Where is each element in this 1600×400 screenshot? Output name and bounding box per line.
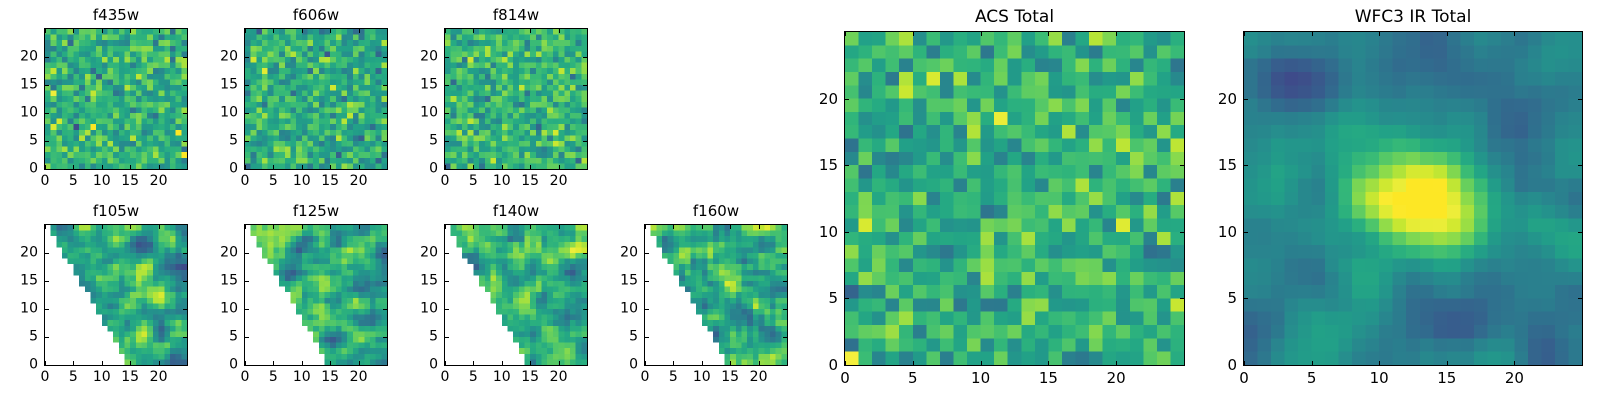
ytick-mark — [183, 281, 187, 282]
axes-f140w — [444, 224, 588, 366]
xtick-mark — [1379, 361, 1380, 365]
ytick-mark — [645, 253, 649, 254]
xtick-mark — [913, 32, 914, 36]
ytick-mark — [45, 281, 49, 282]
xtick-mark — [845, 32, 846, 36]
ytick-mark — [1244, 365, 1248, 366]
ytick-mark — [245, 365, 249, 366]
ytick-label: 0 — [196, 161, 238, 178]
xtick-label: 15 — [321, 173, 339, 190]
ytick-label: 15 — [396, 77, 438, 94]
xtick-label: 0 — [41, 369, 50, 386]
xtick-mark — [159, 165, 160, 169]
xtick-label: 5 — [469, 369, 478, 386]
xtick-mark — [473, 165, 474, 169]
xtick-mark — [502, 361, 503, 365]
panel-title-f606w: f606w — [244, 6, 388, 25]
xtick-mark — [530, 225, 531, 229]
xtick-mark — [359, 165, 360, 169]
xtick-label: 5 — [69, 173, 78, 190]
ytick-label: 0 — [1195, 356, 1237, 374]
xtick-label: 10 — [293, 369, 311, 386]
ytick-label: 5 — [396, 133, 438, 150]
xtick-mark — [130, 225, 131, 229]
xtick-mark — [45, 29, 46, 33]
xtick-label: 20 — [1505, 369, 1524, 387]
ytick-label: 5 — [196, 133, 238, 150]
heatmap-image-acs_total — [845, 32, 1184, 365]
panel-title-f140w: f140w — [444, 202, 588, 221]
ytick-mark — [45, 253, 49, 254]
panel-title-acs_total: ACS Total — [844, 7, 1185, 28]
ytick-label: 20 — [0, 245, 38, 262]
xtick-label: 10 — [693, 369, 711, 386]
ytick-mark — [45, 337, 49, 338]
panel-title-f160w: f160w — [644, 202, 788, 221]
axes-f435w — [44, 28, 188, 170]
xtick-mark — [330, 225, 331, 229]
xtick-mark — [1447, 32, 1448, 36]
ytick-mark — [183, 253, 187, 254]
panel-title-f105w: f105w — [44, 202, 188, 221]
xtick-label: 10 — [1370, 369, 1389, 387]
xtick-label: 15 — [321, 369, 339, 386]
heatmap-image-f435w — [45, 29, 187, 169]
ytick-label: 20 — [0, 49, 38, 66]
xtick-mark — [130, 29, 131, 33]
xtick-mark — [73, 361, 74, 365]
ytick-mark — [383, 57, 387, 58]
xtick-label: 0 — [441, 369, 450, 386]
ytick-mark — [1578, 99, 1582, 100]
ytick-mark — [845, 232, 849, 233]
xtick-mark — [502, 29, 503, 33]
xtick-label: 5 — [908, 369, 918, 387]
xtick-mark — [73, 225, 74, 229]
ytick-label: 20 — [596, 245, 638, 262]
ytick-label: 0 — [596, 357, 638, 374]
ytick-mark — [645, 281, 649, 282]
xtick-label: 20 — [750, 369, 768, 386]
ytick-mark — [245, 281, 249, 282]
ytick-mark — [783, 365, 787, 366]
ytick-label: 10 — [596, 301, 638, 318]
ytick-mark — [583, 169, 587, 170]
xtick-mark — [102, 29, 103, 33]
ytick-label: 5 — [196, 329, 238, 346]
xtick-label: 0 — [241, 173, 250, 190]
ytick-mark — [183, 113, 187, 114]
xtick-mark — [1312, 361, 1313, 365]
xtick-mark — [981, 361, 982, 365]
heatmap-image-f125w — [245, 225, 387, 365]
ytick-label: 5 — [0, 133, 38, 150]
xtick-label: 10 — [493, 369, 511, 386]
ytick-mark — [45, 85, 49, 86]
xtick-mark — [502, 165, 503, 169]
ytick-mark — [845, 165, 849, 166]
xtick-label: 20 — [350, 369, 368, 386]
ytick-mark — [383, 309, 387, 310]
ytick-mark — [445, 253, 449, 254]
ytick-mark — [383, 113, 387, 114]
ytick-mark — [445, 113, 449, 114]
xtick-mark — [102, 165, 103, 169]
ytick-mark — [383, 253, 387, 254]
ytick-mark — [245, 169, 249, 170]
xtick-mark — [1116, 32, 1117, 36]
xtick-label: 15 — [121, 173, 139, 190]
ytick-label: 10 — [396, 105, 438, 122]
xtick-mark — [273, 165, 274, 169]
ytick-label: 10 — [0, 105, 38, 122]
ytick-mark — [1244, 165, 1248, 166]
ytick-label: 0 — [396, 161, 438, 178]
xtick-mark — [1116, 361, 1117, 365]
ytick-label: 20 — [196, 49, 238, 66]
ytick-mark — [845, 365, 849, 366]
ytick-label: 15 — [1195, 156, 1237, 174]
xtick-label: 20 — [350, 173, 368, 190]
ytick-mark — [1578, 298, 1582, 299]
ytick-mark — [245, 57, 249, 58]
xtick-label: 0 — [840, 369, 850, 387]
heatmap-image-f160w — [645, 225, 787, 365]
ytick-mark — [45, 169, 49, 170]
xtick-mark — [473, 29, 474, 33]
ytick-label: 15 — [796, 156, 838, 174]
ytick-mark — [445, 85, 449, 86]
ytick-mark — [445, 281, 449, 282]
ytick-label: 15 — [196, 273, 238, 290]
ytick-mark — [445, 57, 449, 58]
xtick-mark — [302, 361, 303, 365]
ytick-mark — [583, 253, 587, 254]
ytick-label: 15 — [596, 273, 638, 290]
xtick-mark — [1379, 32, 1380, 36]
ytick-mark — [445, 337, 449, 338]
ytick-mark — [783, 253, 787, 254]
ytick-label: 20 — [396, 49, 438, 66]
ytick-mark — [1578, 365, 1582, 366]
ytick-mark — [445, 309, 449, 310]
ytick-mark — [183, 169, 187, 170]
ytick-mark — [1244, 298, 1248, 299]
xtick-mark — [473, 361, 474, 365]
ytick-mark — [583, 141, 587, 142]
xtick-label: 0 — [1239, 369, 1249, 387]
ytick-label: 20 — [796, 90, 838, 108]
heatmap-image-f140w — [445, 225, 587, 365]
ytick-mark — [183, 85, 187, 86]
xtick-label: 10 — [93, 173, 111, 190]
xtick-mark — [559, 29, 560, 33]
ytick-mark — [183, 365, 187, 366]
ytick-label: 0 — [0, 357, 38, 374]
ytick-mark — [183, 309, 187, 310]
xtick-mark — [302, 225, 303, 229]
ytick-label: 15 — [0, 77, 38, 94]
xtick-mark — [445, 29, 446, 33]
ytick-mark — [845, 99, 849, 100]
xtick-mark — [1514, 32, 1515, 36]
ytick-mark — [1180, 99, 1184, 100]
ytick-label: 5 — [396, 329, 438, 346]
xtick-label: 5 — [269, 173, 278, 190]
ytick-mark — [645, 309, 649, 310]
xtick-mark — [1048, 361, 1049, 365]
ytick-mark — [783, 281, 787, 282]
xtick-label: 15 — [521, 173, 539, 190]
xtick-label: 15 — [721, 369, 739, 386]
ytick-mark — [783, 309, 787, 310]
ytick-label: 15 — [196, 77, 238, 94]
ytick-label: 0 — [796, 356, 838, 374]
ytick-mark — [45, 309, 49, 310]
xtick-mark — [730, 361, 731, 365]
ytick-label: 0 — [0, 161, 38, 178]
ytick-mark — [445, 365, 449, 366]
ytick-mark — [383, 141, 387, 142]
xtick-mark — [102, 225, 103, 229]
axes-f606w — [244, 28, 388, 170]
panel-title-wfc3_ir_total: WFC3 IR Total — [1243, 7, 1583, 28]
xtick-label: 20 — [150, 173, 168, 190]
ytick-mark — [1180, 232, 1184, 233]
ytick-label: 15 — [0, 273, 38, 290]
ytick-mark — [383, 169, 387, 170]
ytick-mark — [45, 113, 49, 114]
xtick-mark — [245, 225, 246, 229]
ytick-mark — [1180, 365, 1184, 366]
xtick-mark — [245, 29, 246, 33]
xtick-label: 15 — [521, 369, 539, 386]
ytick-mark — [245, 309, 249, 310]
xtick-mark — [702, 361, 703, 365]
ytick-mark — [583, 365, 587, 366]
ytick-mark — [845, 298, 849, 299]
ytick-label: 15 — [396, 273, 438, 290]
ytick-mark — [45, 365, 49, 366]
xtick-label: 5 — [469, 173, 478, 190]
xtick-mark — [302, 165, 303, 169]
xtick-label: 15 — [121, 369, 139, 386]
xtick-label: 10 — [493, 173, 511, 190]
heatmap-image-f814w — [445, 29, 587, 169]
xtick-mark — [1447, 361, 1448, 365]
ytick-mark — [183, 57, 187, 58]
ytick-label: 10 — [0, 301, 38, 318]
xtick-label: 5 — [269, 369, 278, 386]
xtick-label: 5 — [669, 369, 678, 386]
ytick-mark — [383, 85, 387, 86]
ytick-mark — [583, 113, 587, 114]
xtick-mark — [981, 32, 982, 36]
xtick-mark — [73, 165, 74, 169]
xtick-label: 10 — [971, 369, 990, 387]
xtick-mark — [73, 29, 74, 33]
xtick-mark — [130, 165, 131, 169]
ytick-mark — [383, 365, 387, 366]
ytick-mark — [445, 169, 449, 170]
xtick-mark — [1048, 32, 1049, 36]
ytick-label: 5 — [0, 329, 38, 346]
xtick-label: 10 — [293, 173, 311, 190]
panel-title-f125w: f125w — [244, 202, 388, 221]
xtick-mark — [473, 225, 474, 229]
xtick-mark — [1312, 32, 1313, 36]
xtick-mark — [730, 225, 731, 229]
xtick-mark — [302, 29, 303, 33]
figure-canvas: f435w0510152005101520f606w05101520051015… — [0, 0, 1600, 400]
xtick-mark — [273, 361, 274, 365]
xtick-mark — [673, 361, 674, 365]
ytick-mark — [383, 281, 387, 282]
ytick-mark — [1244, 232, 1248, 233]
axes-f125w — [244, 224, 388, 366]
ytick-label: 5 — [596, 329, 638, 346]
ytick-label: 20 — [196, 245, 238, 262]
xtick-label: 0 — [441, 173, 450, 190]
xtick-label: 0 — [241, 369, 250, 386]
ytick-mark — [583, 57, 587, 58]
xtick-mark — [273, 29, 274, 33]
xtick-mark — [559, 361, 560, 365]
ytick-mark — [245, 85, 249, 86]
xtick-label: 5 — [1307, 369, 1317, 387]
ytick-mark — [245, 113, 249, 114]
ytick-mark — [1578, 232, 1582, 233]
xtick-label: 15 — [1437, 369, 1456, 387]
xtick-mark — [159, 29, 160, 33]
axes-acs_total — [844, 31, 1185, 366]
ytick-mark — [645, 337, 649, 338]
xtick-mark — [359, 29, 360, 33]
ytick-label: 5 — [1195, 289, 1237, 307]
xtick-mark — [330, 361, 331, 365]
xtick-mark — [645, 225, 646, 229]
xtick-mark — [559, 165, 560, 169]
xtick-mark — [673, 225, 674, 229]
xtick-label: 0 — [41, 173, 50, 190]
ytick-mark — [1578, 165, 1582, 166]
xtick-mark — [273, 225, 274, 229]
ytick-label: 5 — [796, 289, 838, 307]
ytick-mark — [245, 253, 249, 254]
ytick-label: 10 — [1195, 223, 1237, 241]
xtick-mark — [330, 29, 331, 33]
xtick-mark — [530, 165, 531, 169]
xtick-mark — [330, 165, 331, 169]
xtick-label: 20 — [550, 369, 568, 386]
xtick-mark — [130, 361, 131, 365]
axes-f160w — [644, 224, 788, 366]
heatmap-image-f606w — [245, 29, 387, 169]
ytick-label: 20 — [396, 245, 438, 262]
xtick-mark — [759, 361, 760, 365]
xtick-mark — [759, 225, 760, 229]
axes-f105w — [44, 224, 188, 366]
xtick-mark — [530, 29, 531, 33]
xtick-mark — [159, 361, 160, 365]
ytick-mark — [245, 141, 249, 142]
ytick-label: 10 — [196, 301, 238, 318]
ytick-mark — [45, 141, 49, 142]
xtick-mark — [702, 225, 703, 229]
ytick-mark — [1244, 99, 1248, 100]
ytick-mark — [583, 281, 587, 282]
axes-f814w — [444, 28, 588, 170]
ytick-mark — [783, 337, 787, 338]
ytick-label: 10 — [196, 105, 238, 122]
panel-title-f814w: f814w — [444, 6, 588, 25]
ytick-mark — [183, 141, 187, 142]
axes-wfc3_ir_total — [1243, 31, 1583, 366]
xtick-label: 20 — [150, 369, 168, 386]
ytick-mark — [583, 85, 587, 86]
xtick-mark — [445, 225, 446, 229]
ytick-label: 10 — [796, 223, 838, 241]
ytick-mark — [183, 337, 187, 338]
heatmap-image-f105w — [45, 225, 187, 365]
xtick-mark — [359, 361, 360, 365]
panel-title-f435w: f435w — [44, 6, 188, 25]
ytick-mark — [45, 57, 49, 58]
xtick-label: 20 — [1107, 369, 1126, 387]
ytick-label: 10 — [396, 301, 438, 318]
ytick-mark — [583, 309, 587, 310]
ytick-mark — [445, 141, 449, 142]
xtick-mark — [502, 225, 503, 229]
xtick-mark — [1244, 32, 1245, 36]
xtick-mark — [159, 225, 160, 229]
ytick-mark — [583, 337, 587, 338]
ytick-mark — [1180, 298, 1184, 299]
xtick-mark — [359, 225, 360, 229]
ytick-label: 0 — [196, 357, 238, 374]
ytick-mark — [1180, 165, 1184, 166]
xtick-label: 15 — [1039, 369, 1058, 387]
ytick-label: 0 — [396, 357, 438, 374]
xtick-mark — [1514, 361, 1515, 365]
ytick-label: 20 — [1195, 90, 1237, 108]
ytick-mark — [645, 365, 649, 366]
xtick-mark — [559, 225, 560, 229]
xtick-label: 10 — [93, 369, 111, 386]
xtick-label: 5 — [69, 369, 78, 386]
xtick-mark — [102, 361, 103, 365]
xtick-label: 20 — [550, 173, 568, 190]
xtick-mark — [530, 361, 531, 365]
xtick-mark — [45, 225, 46, 229]
xtick-mark — [913, 361, 914, 365]
xtick-label: 0 — [641, 369, 650, 386]
ytick-mark — [245, 337, 249, 338]
heatmap-image-wfc3_ir_total — [1244, 32, 1582, 365]
ytick-mark — [383, 337, 387, 338]
